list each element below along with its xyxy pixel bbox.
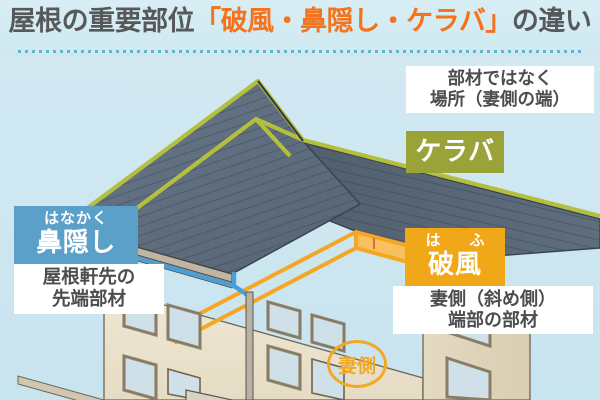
title-plain-part-1: 屋根の重要部位 — [9, 6, 195, 37]
hanakakushi-description: 屋根軒先の 先端部材 — [14, 264, 164, 314]
hanakakushi-label: 鼻隠し — [14, 228, 138, 259]
hafu-furigana: は ふ — [405, 228, 505, 250]
tsumagawa-circle-label: 妻側 — [327, 340, 387, 388]
hanakakushi-description-line-1: 屋根軒先の — [20, 267, 158, 289]
title-plain-part-2: の違い — [512, 6, 592, 37]
header-banner: 屋根の重要部位「破風・鼻隠し・ケラバ」の違い — [0, 0, 600, 56]
hafu-label: 破風 — [405, 250, 505, 281]
hafu-description-line-1: 妻側（斜め側） — [399, 289, 587, 310]
hafu-label-badge: は ふ 破風 — [405, 228, 505, 286]
kerava-description-line-2: 場所（妻側の端） — [412, 90, 588, 111]
title-highlight-part: 「破風・鼻隠し・ケラバ」 — [194, 6, 512, 37]
hafu-description: 妻側（斜め側） 端部の部材 — [393, 286, 593, 334]
downspout — [246, 292, 253, 400]
kerava-description-line-1: 部材ではなく — [412, 69, 588, 90]
kerava-label-badge: ケラバ — [406, 131, 504, 173]
kerava-description: 部材ではなく 場所（妻側の端） — [406, 66, 594, 113]
hanakakushi-description-line-2: 先端部材 — [20, 289, 158, 311]
dotted-divider — [18, 50, 582, 53]
hafu-description-line-2: 端部の部材 — [399, 310, 587, 331]
hanakakushi-furigana: はなかく — [14, 206, 138, 228]
page-title: 屋根の重要部位「破風・鼻隠し・ケラバ」の違い — [0, 8, 600, 35]
hanakakushi-label-badge: はなかく 鼻隠し — [14, 206, 138, 264]
screenshot-root: 屋根の重要部位「破風・鼻隠し・ケラバ」の違い — [0, 0, 600, 400]
